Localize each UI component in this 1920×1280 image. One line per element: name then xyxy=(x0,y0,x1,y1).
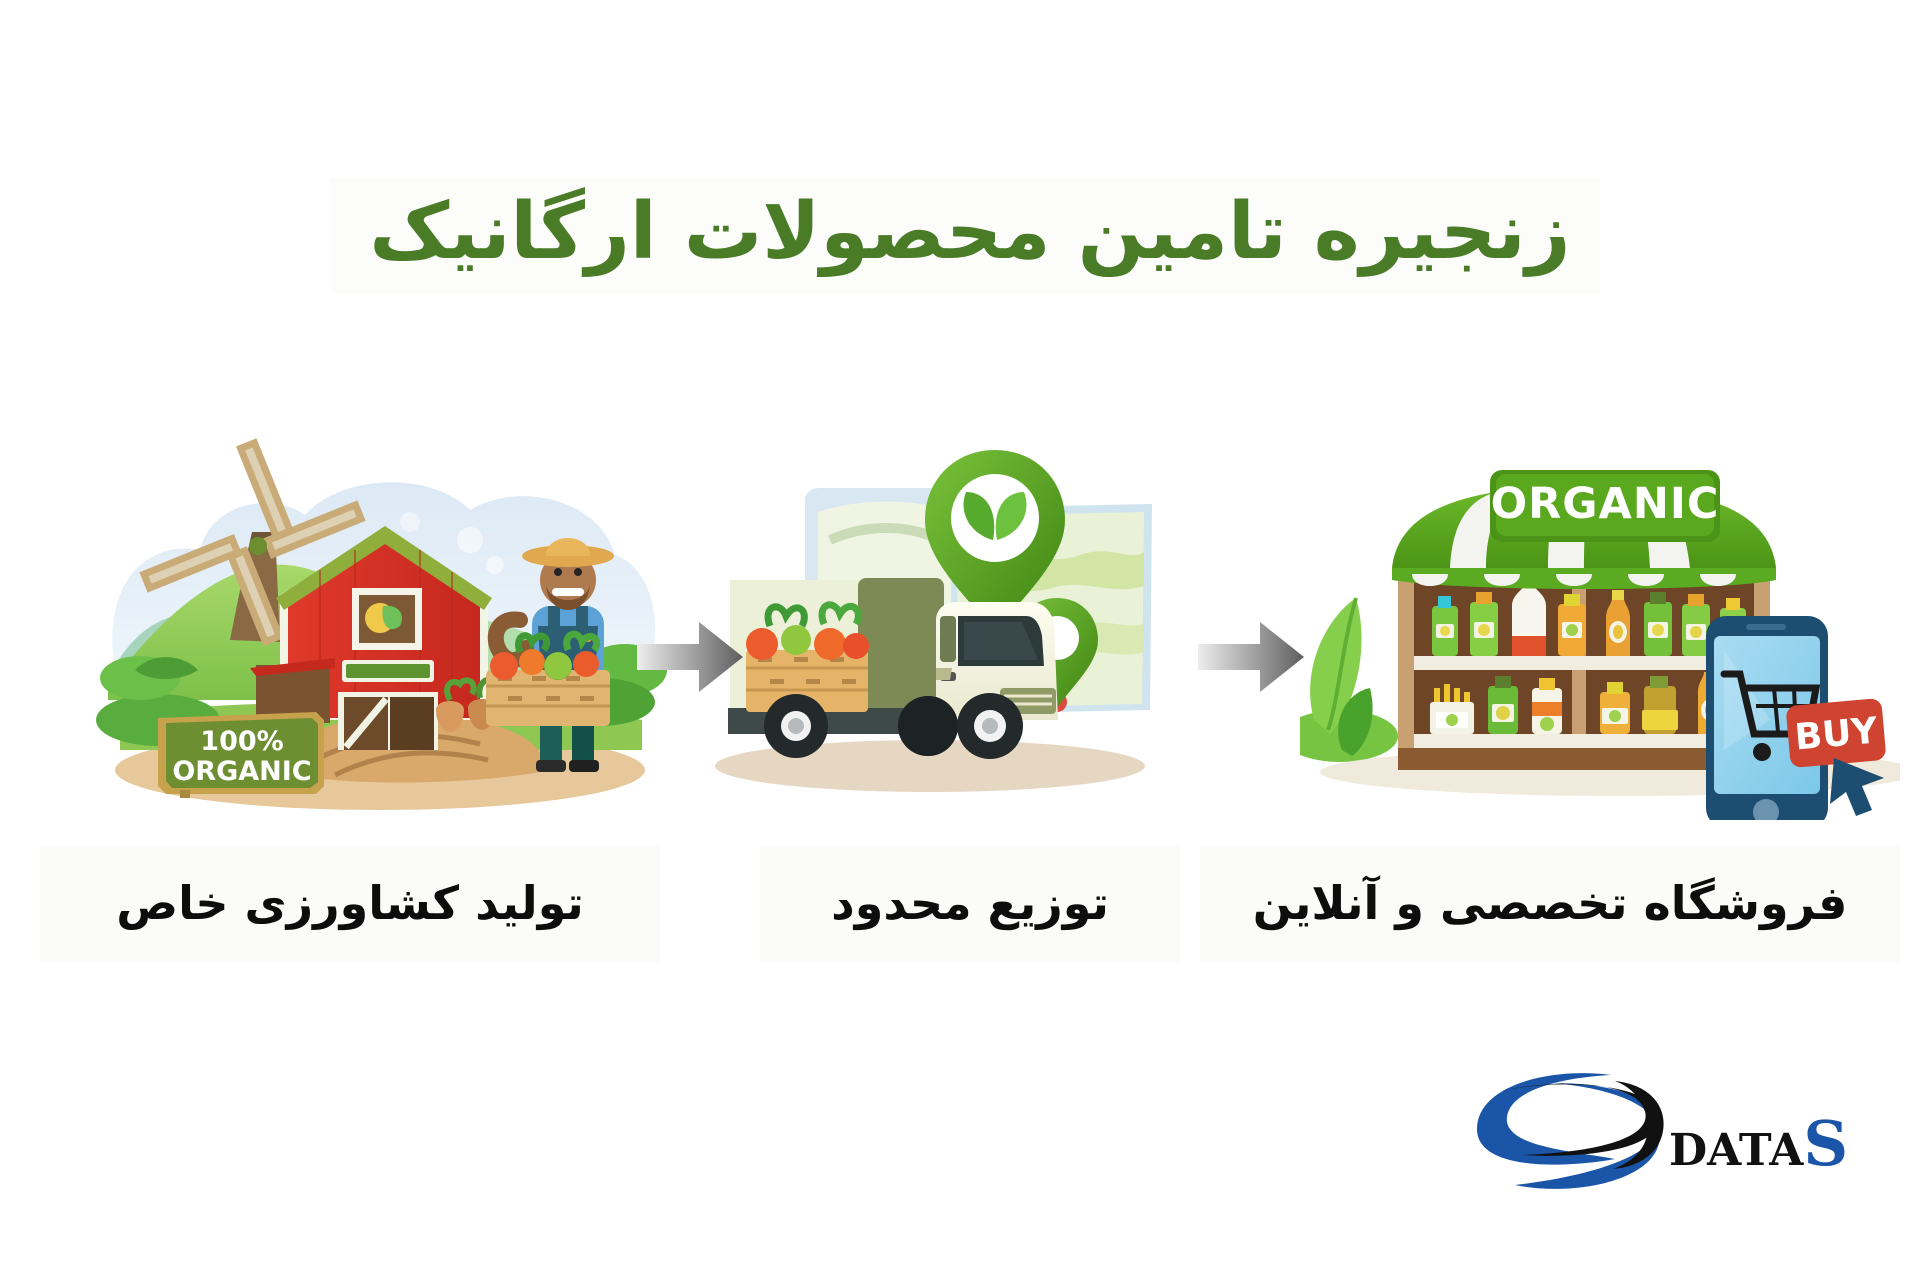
logo-wordmark: S DATA xyxy=(1669,1107,1847,1171)
cloud-dot xyxy=(486,556,504,574)
buy-tag: BUY xyxy=(1785,698,1886,768)
caption-distribution: توزیع محدود xyxy=(760,845,1180,963)
caption-text: توزیع محدود xyxy=(831,875,1109,933)
step-production-illustration: 100% ORGANIC xyxy=(80,420,680,820)
store-sign: ORGANIC xyxy=(1490,470,1720,542)
caption-retail: فروشگاه تخصصی و آنلاین xyxy=(1200,845,1900,963)
logo-s-letter: S xyxy=(1803,1107,1847,1180)
logo-data-letters: DATA xyxy=(1669,1125,1803,1176)
infographic-canvas: زنجیره تامین محصولات ارگانیک xyxy=(0,0,1920,1280)
svg-text:ORGANIC: ORGANIC xyxy=(1491,479,1720,529)
organic-store-online-illustration: ORGANIC xyxy=(1300,420,1900,820)
right-arrow-icon xyxy=(635,618,745,696)
bottles-lower-left xyxy=(1430,676,1562,734)
delivery-truck xyxy=(728,578,1058,759)
right-arrow-icon xyxy=(1196,618,1306,696)
svg-text:BUY: BUY xyxy=(1793,710,1880,758)
caption-production: تولید کشاورزی خاص xyxy=(40,845,660,963)
supply-chain-flow: 100% ORGANIC xyxy=(0,420,1920,820)
shelf-board xyxy=(1414,734,1754,748)
page-title: زنجیره تامین محصولات ارگانیک xyxy=(300,180,1640,285)
shelf-board xyxy=(1414,656,1754,670)
cloud-dot xyxy=(400,512,420,532)
step-distribution-illustration xyxy=(700,420,1200,820)
svg-text:ORGANIC: ORGANIC xyxy=(172,756,311,787)
organic-sign: 100% ORGANIC xyxy=(158,712,324,798)
caption-text: تولید کشاورزی خاص xyxy=(116,875,584,933)
sdata-logo: S DATA xyxy=(1455,1055,1875,1205)
step-captions: تولید کشاورزی خاص توزیع محدود فروشگاه تخ… xyxy=(0,845,1920,965)
mirror xyxy=(936,668,952,680)
step-retail-illustration: ORGANIC xyxy=(1300,420,1900,820)
caption-text: فروشگاه تخصصی و آنلاین xyxy=(1253,875,1848,933)
organic-farm-illustration: 100% ORGANIC xyxy=(80,420,680,820)
delivery-truck-map-illustration xyxy=(700,420,1200,820)
svg-text:100%: 100% xyxy=(200,726,283,757)
cloud-dot xyxy=(457,527,483,553)
plant xyxy=(1300,598,1398,762)
